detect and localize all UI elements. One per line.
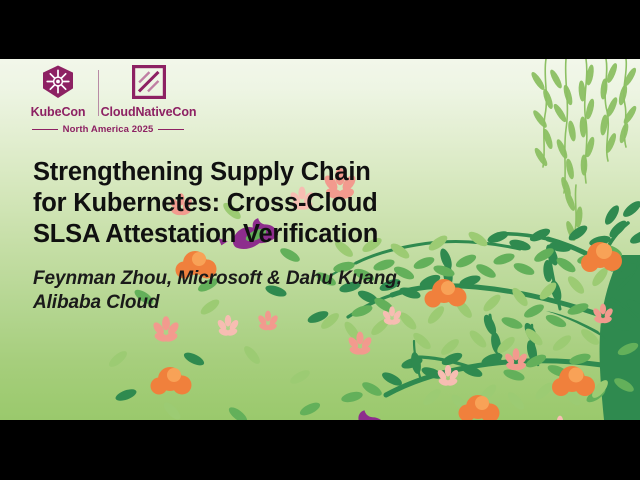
willow-branch xyxy=(530,59,638,241)
cloudnativecon-logo-group: CloudNativeCon xyxy=(101,63,196,119)
cloudnativecon-wordmark: CloudNativeCon xyxy=(101,105,197,119)
letterbox-bottom xyxy=(0,420,640,480)
logo-row: KubeCon xyxy=(20,63,196,119)
page-title: Strengthening Supply Chain for Kubernete… xyxy=(33,157,453,250)
edition-rule-left xyxy=(32,129,58,130)
edition-rule-right xyxy=(158,129,184,130)
letterbox-top xyxy=(0,0,640,59)
title-line-2: for Kubernetes: Cross-Cloud xyxy=(33,189,378,217)
cloud-native-square-icon xyxy=(132,63,166,101)
kubernetes-helm-icon xyxy=(40,63,76,101)
edition-line: North America 2025 xyxy=(20,124,196,135)
kubecon-logo-group: KubeCon xyxy=(20,63,96,119)
slide-canvas: KubeCon xyxy=(0,59,640,420)
bird-lower xyxy=(320,410,387,420)
logo-divider xyxy=(98,70,99,116)
speaker-line: Feynman Zhou, Microsoft & Dahu Kuang, Al… xyxy=(33,267,453,315)
title-line-3: SLSA Attestation Verification xyxy=(33,220,378,248)
kubecon-cloudnativecon-logo: KubeCon xyxy=(20,63,196,135)
slide-text-block: Strengthening Supply Chain for Kubernete… xyxy=(33,157,453,315)
slide-root: KubeCon xyxy=(0,0,640,480)
title-line-1: Strengthening Supply Chain xyxy=(33,158,371,186)
edition-label: North America 2025 xyxy=(63,124,154,135)
kubecon-wordmark: KubeCon xyxy=(31,105,86,119)
